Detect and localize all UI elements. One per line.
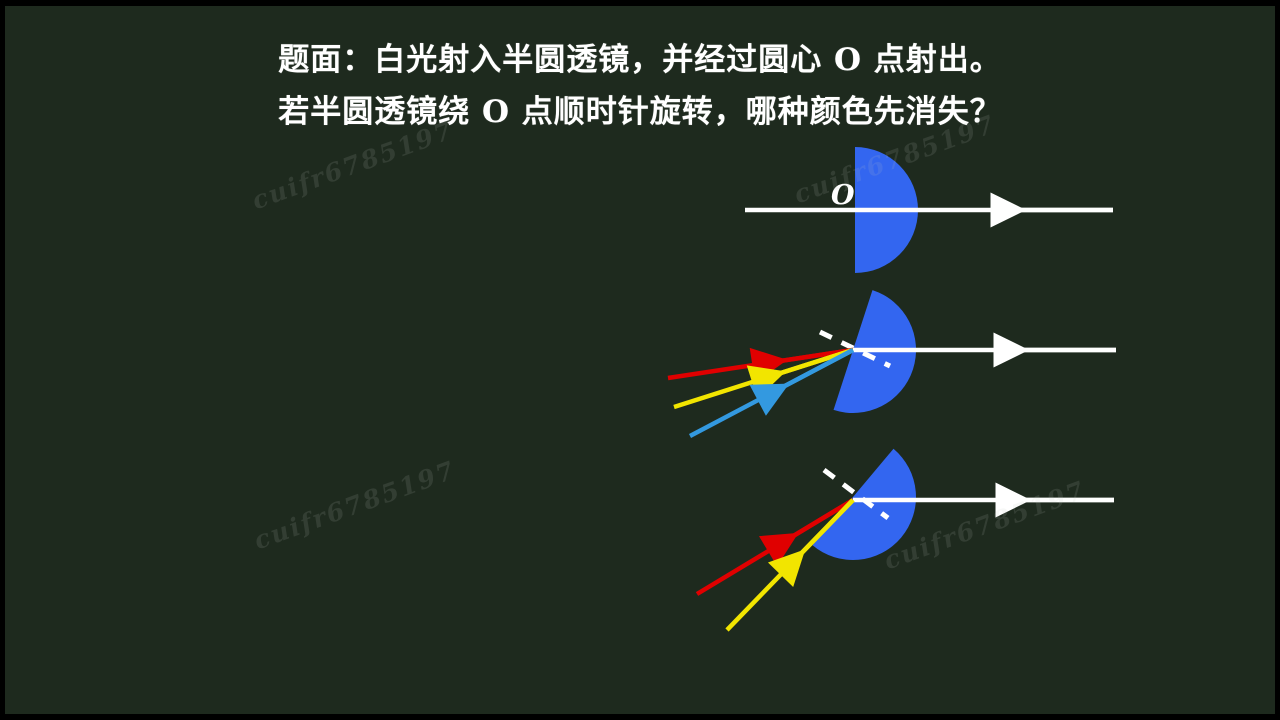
refracted-rays-2	[668, 350, 853, 436]
semicircular-lens-3	[813, 449, 916, 560]
diagram-1-group: O	[745, 147, 1113, 273]
diagram-2-group	[668, 290, 1116, 436]
diagram-3-group	[697, 449, 1114, 630]
optics-diagram: O	[0, 0, 1280, 720]
slide-canvas: 题面：白光射入半圆透镜，并经过圆心 O 点射出。 若半圆透镜绕 O 点顺时针旋转…	[0, 0, 1280, 720]
refracted-rays-3	[697, 500, 853, 630]
center-point-label-O: O	[831, 180, 855, 211]
